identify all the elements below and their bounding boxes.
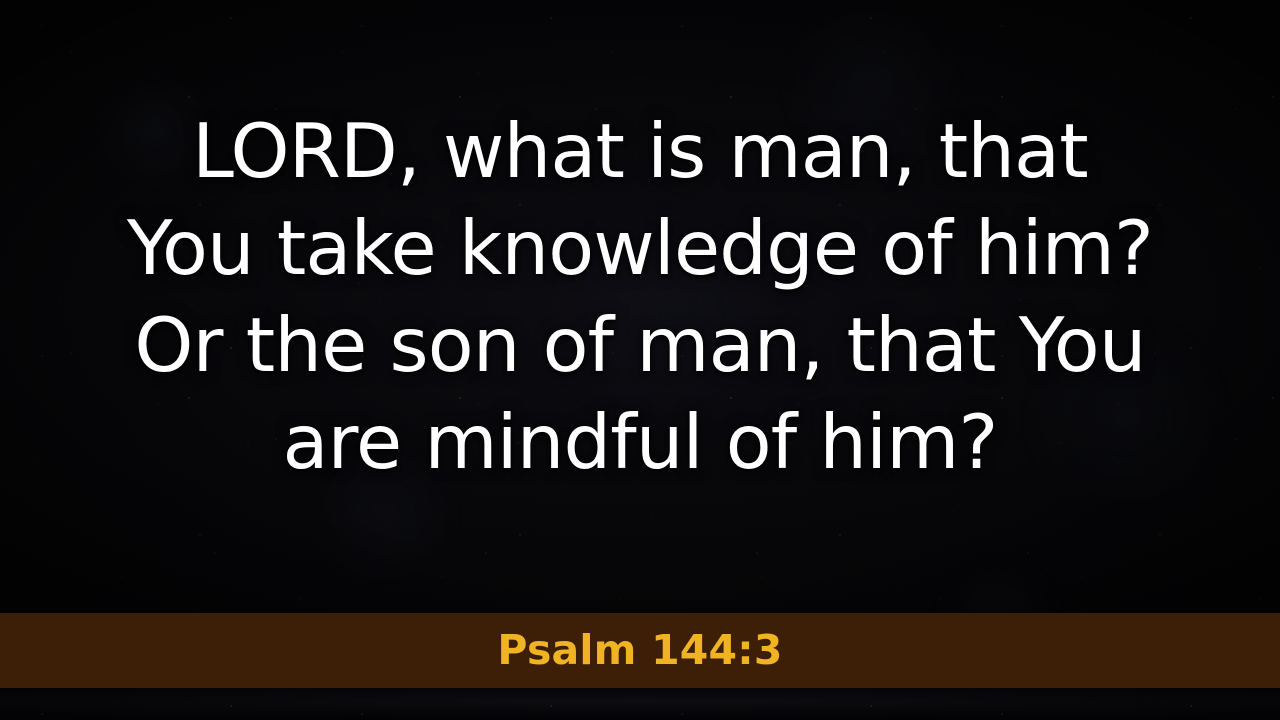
verse-line-4: are mindful of him? <box>283 394 998 491</box>
verse-line-3: Or the son of man, that You <box>134 297 1145 394</box>
bottom-strip-base <box>0 688 1280 720</box>
verse-line-2: You take knowledge of him? <box>127 200 1153 297</box>
verse-line-1: LORD, what is man, that <box>192 103 1088 200</box>
scripture-reference-bar: Psalm 144:3 <box>0 613 1280 688</box>
scripture-slide: LORD, what is man, that You take knowled… <box>0 0 1280 720</box>
scripture-reference-label: Psalm 144:3 <box>497 630 782 671</box>
bottom-strip-starfield <box>0 688 1280 720</box>
verse-text-block: LORD, what is man, that You take knowled… <box>0 0 1280 613</box>
bottom-background-strip <box>0 688 1280 720</box>
